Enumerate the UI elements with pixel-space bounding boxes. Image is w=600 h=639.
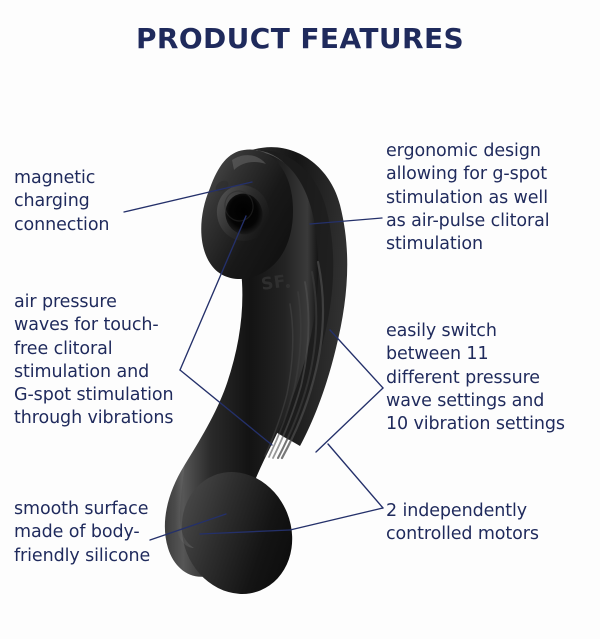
air-pulse-nozzle-opening (221, 190, 267, 239)
head-collar-ridges (248, 147, 347, 446)
nozzle-rim (211, 180, 275, 247)
callout-controlled-motors: 2 independently controlled motors (386, 500, 592, 547)
leader-line-ergonomic (310, 218, 382, 224)
vibration-ridges (265, 262, 323, 458)
product-features-infographic: PRODUCT FEATURES (0, 0, 600, 639)
callout-smooth-surface: smooth surface made of body- friendly si… (14, 498, 214, 568)
leader-line-settings-lower (316, 388, 383, 452)
head-highlight (232, 155, 266, 170)
callout-air-pressure-waves: air pressure waves for touch- free clito… (14, 291, 226, 431)
leader-line-settings-upper (330, 330, 383, 388)
nozzle-inner-shadow (222, 188, 256, 224)
product-head (201, 150, 293, 280)
svg-text:SF: SF (260, 272, 287, 295)
magnetic-charging-contact (214, 178, 231, 193)
leader-line-motors-lower (290, 508, 383, 530)
callout-pressure-wave-settings: easily switch between 11 different press… (386, 320, 598, 436)
brand-logo-icon: SF (260, 272, 290, 295)
leader-line-motors-upper (328, 444, 383, 508)
callout-ergonomic-design: ergonomic design allowing for g-spot sti… (386, 140, 598, 256)
page-title: PRODUCT FEATURES (0, 22, 600, 55)
callout-magnetic-charging: magnetic charging connection (14, 167, 194, 237)
